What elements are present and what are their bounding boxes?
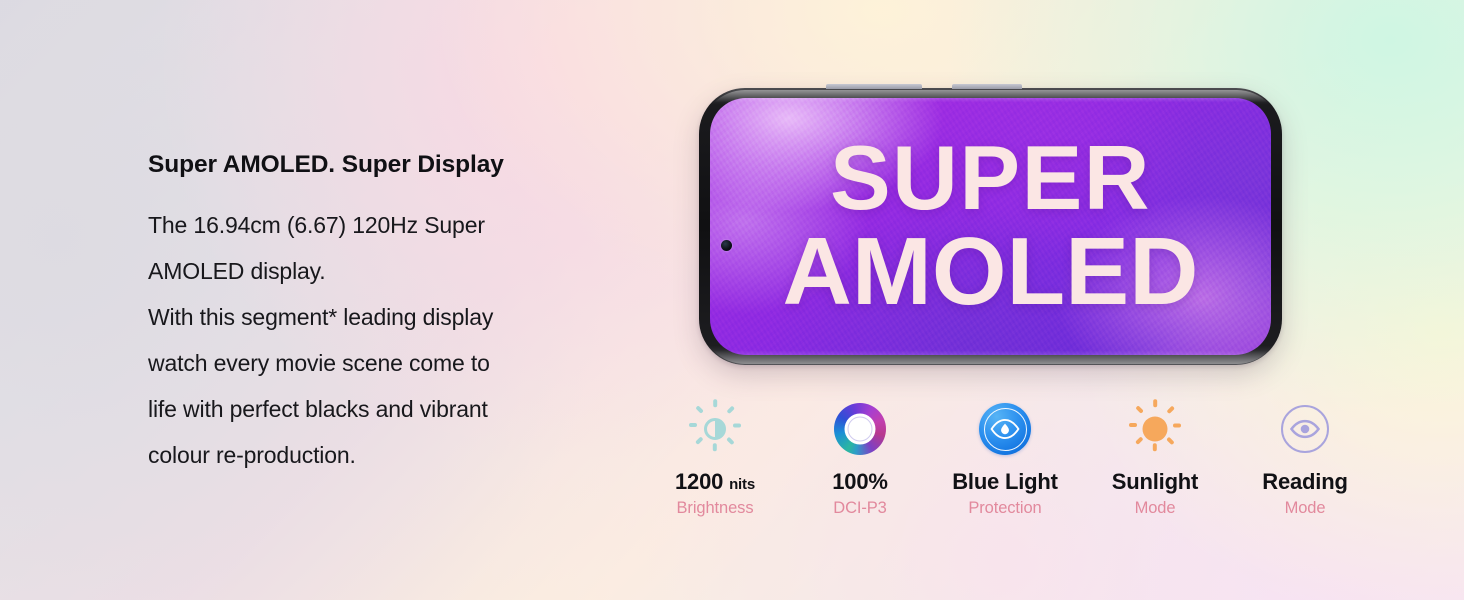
feature-item-sunlight: Sunlight Mode (1080, 398, 1230, 518)
feature-value-unit: nits (729, 476, 755, 493)
volume-rocker-button (826, 84, 922, 89)
feature-icon-wrap (930, 398, 1080, 460)
feature-subtitle: Protection (930, 499, 1080, 518)
power-button (952, 84, 1022, 89)
feature-subtitle: Mode (1080, 499, 1230, 518)
front-camera-icon (721, 240, 732, 251)
screen-text-line-2: AMOLED (783, 225, 1199, 318)
body-line: watch every movie scene come to (148, 340, 648, 386)
screen-wallpaper-text: SUPER AMOLED (710, 98, 1271, 355)
body-line: The 16.94cm (6.67) 120Hz Super (148, 202, 648, 248)
blue-light-eye-icon (979, 403, 1031, 455)
screen-text-line-1: SUPER (830, 135, 1151, 223)
feature-icon-wrap (640, 398, 790, 460)
feature-icon-wrap (1230, 398, 1380, 460)
feature-icon-wrap (1080, 398, 1230, 460)
feature-value: Blue Light (930, 469, 1080, 495)
feature-subtitle: Brightness (640, 499, 790, 518)
phone-screen: SUPER AMOLED (710, 98, 1271, 355)
reading-eye-icon (1279, 403, 1331, 455)
body-line: AMOLED display. (148, 248, 648, 294)
feature-list: 1200 nits Brightness 100% DCI-P3 (640, 398, 1440, 518)
feature-subtitle: Mode (1230, 499, 1380, 518)
feature-item-reading: Reading Mode (1230, 398, 1380, 518)
feature-value: Reading (1230, 469, 1380, 495)
copy-block: Super AMOLED. Super Display The 16.94cm … (148, 152, 648, 478)
feature-item-brightness: 1200 nits Brightness (640, 398, 790, 518)
eye-droplet-glyph (990, 419, 1020, 439)
phone-frame: SUPER AMOLED (699, 88, 1282, 365)
feature-value: 1200 nits (640, 469, 790, 495)
feature-icon-wrap (790, 398, 930, 460)
sunlight-sun-icon (1129, 403, 1181, 455)
feature-value: 100% (790, 469, 930, 495)
feature-item-bluelight: Blue Light Protection (930, 398, 1080, 518)
body-line: colour re-production. (148, 432, 648, 478)
eye-glyph (1279, 403, 1331, 455)
page-title: Super AMOLED. Super Display (148, 152, 648, 179)
body-line: life with perfect blacks and vibrant (148, 386, 648, 432)
color-gamut-ring-icon (834, 403, 886, 455)
body-copy: The 16.94cm (6.67) 120Hz Super AMOLED di… (148, 202, 648, 478)
brightness-sun-icon (689, 403, 741, 455)
ring-inner-circle (845, 414, 876, 445)
display-feature-banner: Super AMOLED. Super Display The 16.94cm … (0, 0, 1464, 600)
body-line: With this segment* leading display (148, 294, 648, 340)
feature-item-dcip3: 100% DCI-P3 (790, 398, 930, 518)
feature-subtitle: DCI-P3 (790, 499, 930, 518)
phone-illustration: SUPER AMOLED (699, 88, 1282, 365)
feature-value-number: 1200 (675, 469, 723, 494)
feature-value: Sunlight (1080, 469, 1230, 495)
